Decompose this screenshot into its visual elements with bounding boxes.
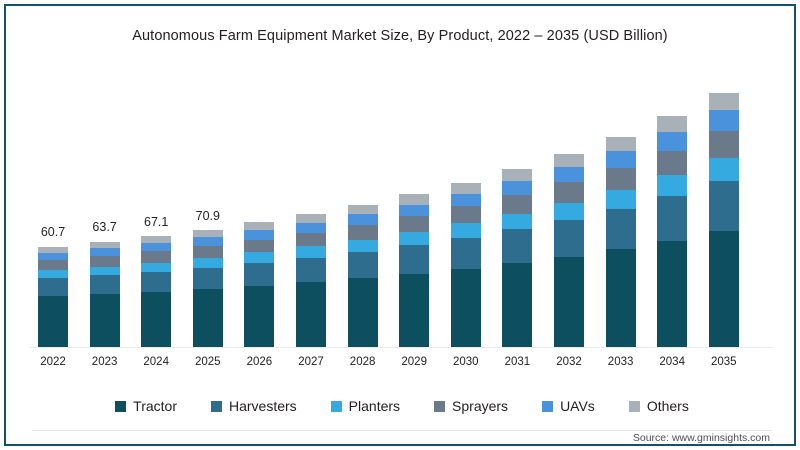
x-tick-2022: 2022 — [27, 356, 79, 368]
x-tick-2027: 2027 — [285, 356, 337, 368]
bar-segment-others[interactable] — [502, 169, 532, 181]
legend-swatch-icon — [629, 401, 640, 412]
legend-label: Tractor — [133, 398, 177, 414]
legend-item-uavs[interactable]: UAVs — [542, 398, 595, 414]
bar-segment-harvesters[interactable] — [709, 181, 739, 231]
bar-segment-tractor[interactable] — [657, 241, 687, 347]
bar-segment-tractor[interactable] — [709, 231, 739, 347]
x-tick-2028: 2028 — [337, 356, 389, 368]
bar-segment-harvesters[interactable] — [90, 275, 120, 294]
legend-swatch-icon — [115, 401, 126, 412]
footer-divider — [32, 430, 772, 431]
bar-segment-planters[interactable] — [451, 223, 481, 237]
axis-baseline — [30, 347, 774, 348]
bar-segment-sprayers[interactable] — [451, 206, 481, 223]
bar-segment-tractor[interactable] — [244, 286, 274, 347]
bar-segment-tractor[interactable] — [554, 257, 584, 347]
bar-segment-others[interactable] — [451, 183, 481, 194]
bar-stack-2023[interactable] — [90, 242, 120, 348]
bar-segment-uavs[interactable] — [38, 253, 68, 260]
bar-stack-2024[interactable] — [141, 236, 171, 347]
bar-segment-harvesters[interactable] — [193, 268, 223, 290]
bar-segment-sprayers[interactable] — [296, 233, 326, 247]
bar-segment-tractor[interactable] — [399, 274, 429, 347]
bar-segment-uavs[interactable] — [244, 230, 274, 239]
bar-segment-uavs[interactable] — [709, 110, 739, 131]
bar-segment-harvesters[interactable] — [657, 196, 687, 241]
bar-segment-planters[interactable] — [296, 246, 326, 257]
bar-segment-planters[interactable] — [141, 263, 171, 272]
bar-segment-uavs[interactable] — [141, 243, 171, 251]
x-tick-2023: 2023 — [79, 356, 131, 368]
bar-segment-harvesters[interactable] — [606, 209, 636, 250]
bar-segment-planters[interactable] — [399, 232, 429, 245]
legend-swatch-icon — [434, 401, 445, 412]
bar-segment-planters[interactable] — [502, 214, 532, 230]
bar-segment-tractor[interactable] — [193, 289, 223, 347]
bar-segment-others[interactable] — [348, 205, 378, 214]
x-tick-2031: 2031 — [491, 356, 543, 368]
bar-segment-harvesters[interactable] — [451, 238, 481, 269]
bar-stack-2031[interactable] — [502, 169, 532, 347]
bar-segment-uavs[interactable] — [502, 181, 532, 195]
bar-segment-others[interactable] — [554, 154, 584, 167]
bar-segment-tractor[interactable] — [451, 269, 481, 347]
bar-segment-uavs[interactable] — [657, 132, 687, 151]
chart-legend: TractorHarvestersPlantersSprayersUAVsOth… — [6, 398, 798, 414]
bar-segment-sprayers[interactable] — [244, 240, 274, 253]
bar-segment-sprayers[interactable] — [657, 151, 687, 176]
legend-swatch-icon — [211, 401, 222, 412]
legend-label: UAVs — [560, 398, 595, 414]
legend-label: Others — [647, 398, 689, 414]
bar-segment-uavs[interactable] — [296, 223, 326, 233]
legend-item-others[interactable]: Others — [629, 398, 689, 414]
legend-swatch-icon — [331, 401, 342, 412]
x-tick-2026: 2026 — [233, 356, 285, 368]
bar-segment-harvesters[interactable] — [554, 220, 584, 257]
chart-frame: Autonomous Farm Equipment Market Size, B… — [4, 4, 796, 446]
legend-item-tractor[interactable]: Tractor — [115, 398, 177, 414]
bar-segment-sprayers[interactable] — [38, 260, 68, 270]
bar-stack-2032[interactable] — [554, 154, 584, 347]
bar-segment-tractor[interactable] — [606, 249, 636, 347]
plot-area: 60.7202263.7202367.1202470.9202520262027… — [6, 6, 798, 448]
bar-segment-tractor[interactable] — [38, 296, 68, 347]
legend-item-harvesters[interactable]: Harvesters — [211, 398, 297, 414]
bar-segment-others[interactable] — [141, 236, 171, 243]
bar-segment-planters[interactable] — [657, 175, 687, 196]
bar-segment-harvesters[interactable] — [141, 272, 171, 292]
bar-stack-2033[interactable] — [606, 137, 636, 348]
bar-segment-uavs[interactable] — [451, 194, 481, 207]
legend-label: Planters — [349, 398, 400, 414]
legend-item-sprayers[interactable]: Sprayers — [434, 398, 508, 414]
bar-segment-uavs[interactable] — [90, 248, 120, 256]
bar-stack-2026[interactable] — [244, 222, 274, 347]
bar-segment-tractor[interactable] — [296, 282, 326, 347]
bar-stack-2028[interactable] — [348, 205, 378, 347]
bar-segment-sprayers[interactable] — [502, 195, 532, 214]
bar-segment-harvesters[interactable] — [502, 229, 532, 263]
bar-segment-planters[interactable] — [554, 203, 584, 220]
bar-segment-harvesters[interactable] — [296, 258, 326, 283]
bar-segment-sprayers[interactable] — [399, 216, 429, 232]
bar-segment-others[interactable] — [244, 222, 274, 230]
legend-label: Harvesters — [229, 398, 297, 414]
bar-stack-2025[interactable] — [193, 230, 223, 347]
bar-segment-sprayers[interactable] — [141, 251, 171, 262]
bar-segment-uavs[interactable] — [193, 237, 223, 246]
bar-value-label-2023: 63.7 — [77, 220, 133, 234]
bar-segment-sprayers[interactable] — [348, 225, 378, 240]
bar-segment-others[interactable] — [193, 230, 223, 237]
bar-segment-tractor[interactable] — [502, 263, 532, 347]
bar-value-label-2025: 70.9 — [180, 209, 236, 223]
bar-segment-harvesters[interactable] — [348, 252, 378, 279]
legend-swatch-icon — [542, 401, 553, 412]
bar-segment-harvesters[interactable] — [38, 278, 68, 296]
bar-segment-planters[interactable] — [244, 252, 274, 262]
bar-segment-sprayers[interactable] — [90, 256, 120, 267]
bar-segment-tractor[interactable] — [141, 292, 171, 347]
bar-segment-uavs[interactable] — [348, 214, 378, 225]
bar-segment-planters[interactable] — [90, 267, 120, 276]
bar-segment-harvesters[interactable] — [244, 263, 274, 286]
x-tick-2024: 2024 — [130, 356, 182, 368]
bar-stack-2027[interactable] — [296, 214, 326, 347]
x-tick-2034: 2034 — [646, 356, 698, 368]
bar-segment-tractor[interactable] — [348, 278, 378, 347]
bar-segment-planters[interactable] — [193, 258, 223, 268]
x-tick-2029: 2029 — [388, 356, 440, 368]
legend-item-planters[interactable]: Planters — [331, 398, 400, 414]
bar-stack-2030[interactable] — [451, 183, 481, 347]
bar-segment-others[interactable] — [296, 214, 326, 223]
bar-segment-others[interactable] — [90, 242, 120, 249]
bar-segment-planters[interactable] — [38, 270, 68, 278]
bar-segment-tractor[interactable] — [90, 294, 120, 347]
legend-label: Sprayers — [452, 398, 508, 414]
bar-segment-uavs[interactable] — [399, 205, 429, 217]
bar-stack-2022[interactable] — [38, 246, 68, 347]
bar-value-label-2024: 67.1 — [128, 215, 184, 229]
x-tick-2033: 2033 — [595, 356, 647, 368]
bar-segment-planters[interactable] — [709, 158, 739, 181]
bar-segment-sprayers[interactable] — [554, 182, 584, 202]
bar-stack-2035[interactable] — [709, 93, 739, 347]
source-attribution: Source: www.gminsights.com — [633, 432, 770, 444]
bar-segment-uavs[interactable] — [554, 167, 584, 182]
bar-segment-sprayers[interactable] — [606, 168, 636, 190]
bar-stack-2034[interactable] — [657, 116, 687, 347]
bar-segment-others[interactable] — [399, 194, 429, 204]
x-tick-2035: 2035 — [698, 356, 750, 368]
bar-segment-sprayers[interactable] — [193, 246, 223, 258]
bar-segment-planters[interactable] — [348, 240, 378, 252]
bar-stack-2029[interactable] — [399, 194, 429, 347]
bar-segment-sprayers[interactable] — [709, 131, 739, 158]
bar-segment-others[interactable] — [657, 116, 687, 132]
x-tick-2032: 2032 — [543, 356, 595, 368]
x-tick-2025: 2025 — [182, 356, 234, 368]
bar-segment-planters[interactable] — [606, 190, 636, 209]
bar-value-label-2022: 60.7 — [25, 225, 81, 239]
bar-segment-uavs[interactable] — [606, 151, 636, 168]
bar-segment-others[interactable] — [709, 93, 739, 110]
bar-segment-others[interactable] — [606, 137, 636, 151]
bar-segment-harvesters[interactable] — [399, 245, 429, 274]
x-tick-2030: 2030 — [440, 356, 492, 368]
